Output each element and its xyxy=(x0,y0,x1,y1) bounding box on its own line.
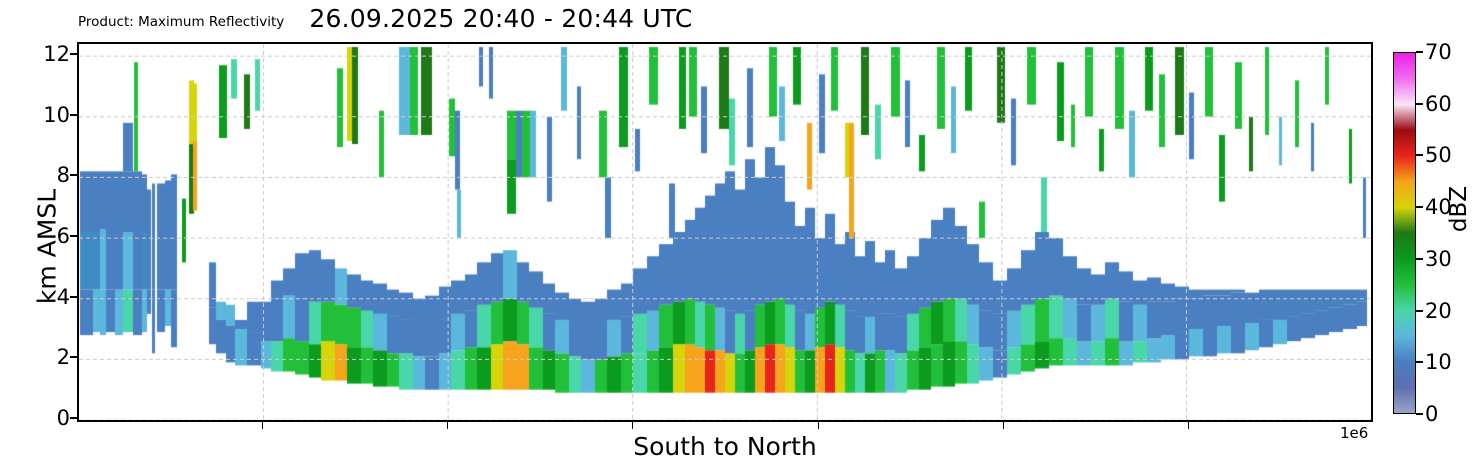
colorbar-tick-70 xyxy=(1416,51,1423,53)
x-axis-tick-4 xyxy=(818,422,819,429)
y-axis-tick-label-2: 2 xyxy=(10,345,70,369)
y-axis-tick-10 xyxy=(70,114,77,116)
figure-title-text: 26.09.2025 20:40 - 20:44 UTC xyxy=(309,4,692,33)
x-axis-tick-3 xyxy=(632,422,633,429)
y-axis-tick-12 xyxy=(70,53,77,55)
y-axis-tick-0 xyxy=(70,417,77,419)
colorbar-tick-label-10: 10 xyxy=(1425,350,1452,374)
colorbar-tick-label-20: 20 xyxy=(1425,299,1452,323)
colorbar-tick-20 xyxy=(1416,310,1423,312)
x-axis-tick-2 xyxy=(447,422,448,429)
reflectivity-heatmap xyxy=(79,44,1371,420)
colorbar-tick-label-60: 60 xyxy=(1425,92,1452,116)
x-axis-tick-6 xyxy=(1188,422,1189,429)
y-axis-tick-8 xyxy=(70,174,77,176)
colorbar-tick-0 xyxy=(1416,413,1423,415)
x-axis-tick-5 xyxy=(1003,422,1004,429)
colorbar-tick-label-70: 70 xyxy=(1425,40,1452,64)
colorbar-tick-label-50: 50 xyxy=(1425,143,1452,167)
x-axis-title: South to North xyxy=(440,432,1010,461)
colorbar xyxy=(1393,52,1416,414)
colorbar-tick-label-0: 0 xyxy=(1425,402,1438,426)
y-axis-tick-label-10: 10 xyxy=(10,103,70,127)
x-axis-offset-label: 1e6 xyxy=(1340,424,1368,442)
y-axis-tick-2 xyxy=(70,356,77,358)
colorbar-tick-30 xyxy=(1416,258,1423,260)
colorbar-gradient xyxy=(1394,53,1415,413)
colorbar-tick-label-30: 30 xyxy=(1425,247,1452,271)
colorbar-tick-10 xyxy=(1416,361,1423,363)
colorbar-tick-60 xyxy=(1416,103,1423,105)
y-axis-tick-label-4: 4 xyxy=(10,285,70,309)
y-axis-tick-label-8: 8 xyxy=(10,163,70,187)
plot-area xyxy=(77,42,1373,422)
radar-cross-section-figure: 26.09.2025 20:40 - 20:44 UTC Product: Ma… xyxy=(0,0,1482,470)
product-label: Product: Maximum Reflectivity xyxy=(78,14,284,30)
y-axis-tick-label-0: 0 xyxy=(10,406,70,430)
colorbar-tick-40 xyxy=(1416,206,1423,208)
colorbar-title: dBZ xyxy=(1446,174,1472,244)
y-axis-tick-4 xyxy=(70,296,77,298)
y-axis-tick-label-12: 12 xyxy=(10,42,70,66)
x-axis-tick-1 xyxy=(262,422,263,429)
y-axis-tick-label-6: 6 xyxy=(10,224,70,248)
y-axis-tick-6 xyxy=(70,235,77,237)
colorbar-tick-50 xyxy=(1416,154,1423,156)
